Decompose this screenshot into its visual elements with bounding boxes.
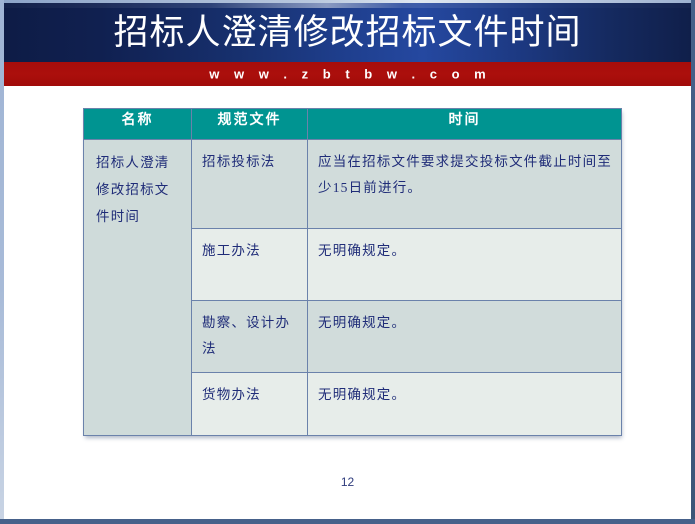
- spec-label: 招标投标法: [192, 140, 307, 184]
- title-bar: 招标人澄清修改招标文件时间: [4, 3, 691, 62]
- time-label: 无明确规定。: [308, 229, 621, 273]
- table-row: 招标人澄清修改招标文件时间 招标投标法 应当在招标文件要求提交投标文件截止时间至…: [84, 140, 622, 229]
- comparison-table: 名称 规范文件 时间 招标人澄清修改招标文件时间 招标投标法: [83, 108, 622, 436]
- slide-border-bottom: [0, 519, 695, 524]
- spec-cell: 货物办法: [192, 372, 308, 435]
- table-body: 招标人澄清修改招标文件时间 招标投标法 应当在招标文件要求提交投标文件截止时间至…: [84, 140, 622, 436]
- category-label: 招标人澄清修改招标文件时间: [84, 140, 191, 239]
- spec-label: 勘察、设计办法: [192, 301, 307, 372]
- time-cell: 无明确规定。: [308, 372, 622, 435]
- page-title: 招标人澄清修改招标文件时间: [4, 14, 691, 49]
- table-header-row: 名称 规范文件 时间: [84, 109, 622, 140]
- time-label: 无明确规定。: [308, 373, 621, 417]
- table-header: 名称 规范文件 时间: [84, 109, 622, 140]
- spec-cell: 招标投标法: [192, 140, 308, 229]
- comparison-table-wrapper: 名称 规范文件 时间 招标人澄清修改招标文件时间 招标投标法: [83, 108, 618, 436]
- spec-cell: 施工办法: [192, 229, 308, 301]
- spec-label: 货物办法: [192, 373, 307, 417]
- column-header-time: 时间: [308, 109, 622, 140]
- column-header-spec: 规范文件: [192, 109, 308, 140]
- column-header-name: 名称: [84, 109, 192, 140]
- page-number: 12: [4, 476, 691, 488]
- time-cell: 无明确规定。: [308, 229, 622, 301]
- time-cell: 应当在招标文件要求提交投标文件截止时间至少15日前进行。: [308, 140, 622, 229]
- spec-cell: 勘察、设计办法: [192, 301, 308, 373]
- slide-canvas: 招标人澄清修改招标文件时间 w w w . z b t b w . c o m …: [0, 0, 695, 524]
- website-banner-text: w w w . z b t b w . c o m: [4, 68, 691, 81]
- time-label: 应当在招标文件要求提交投标文件截止时间至少15日前进行。: [308, 140, 621, 211]
- spec-label: 施工办法: [192, 229, 307, 273]
- time-cell: 无明确规定。: [308, 301, 622, 373]
- slide-body: 名称 规范文件 时间 招标人澄清修改招标文件时间 招标投标法: [4, 86, 691, 519]
- time-label: 无明确规定。: [308, 301, 621, 345]
- category-cell: 招标人澄清修改招标文件时间: [84, 140, 192, 436]
- slide-border-right: [691, 0, 695, 524]
- website-banner: w w w . z b t b w . c o m: [4, 62, 691, 86]
